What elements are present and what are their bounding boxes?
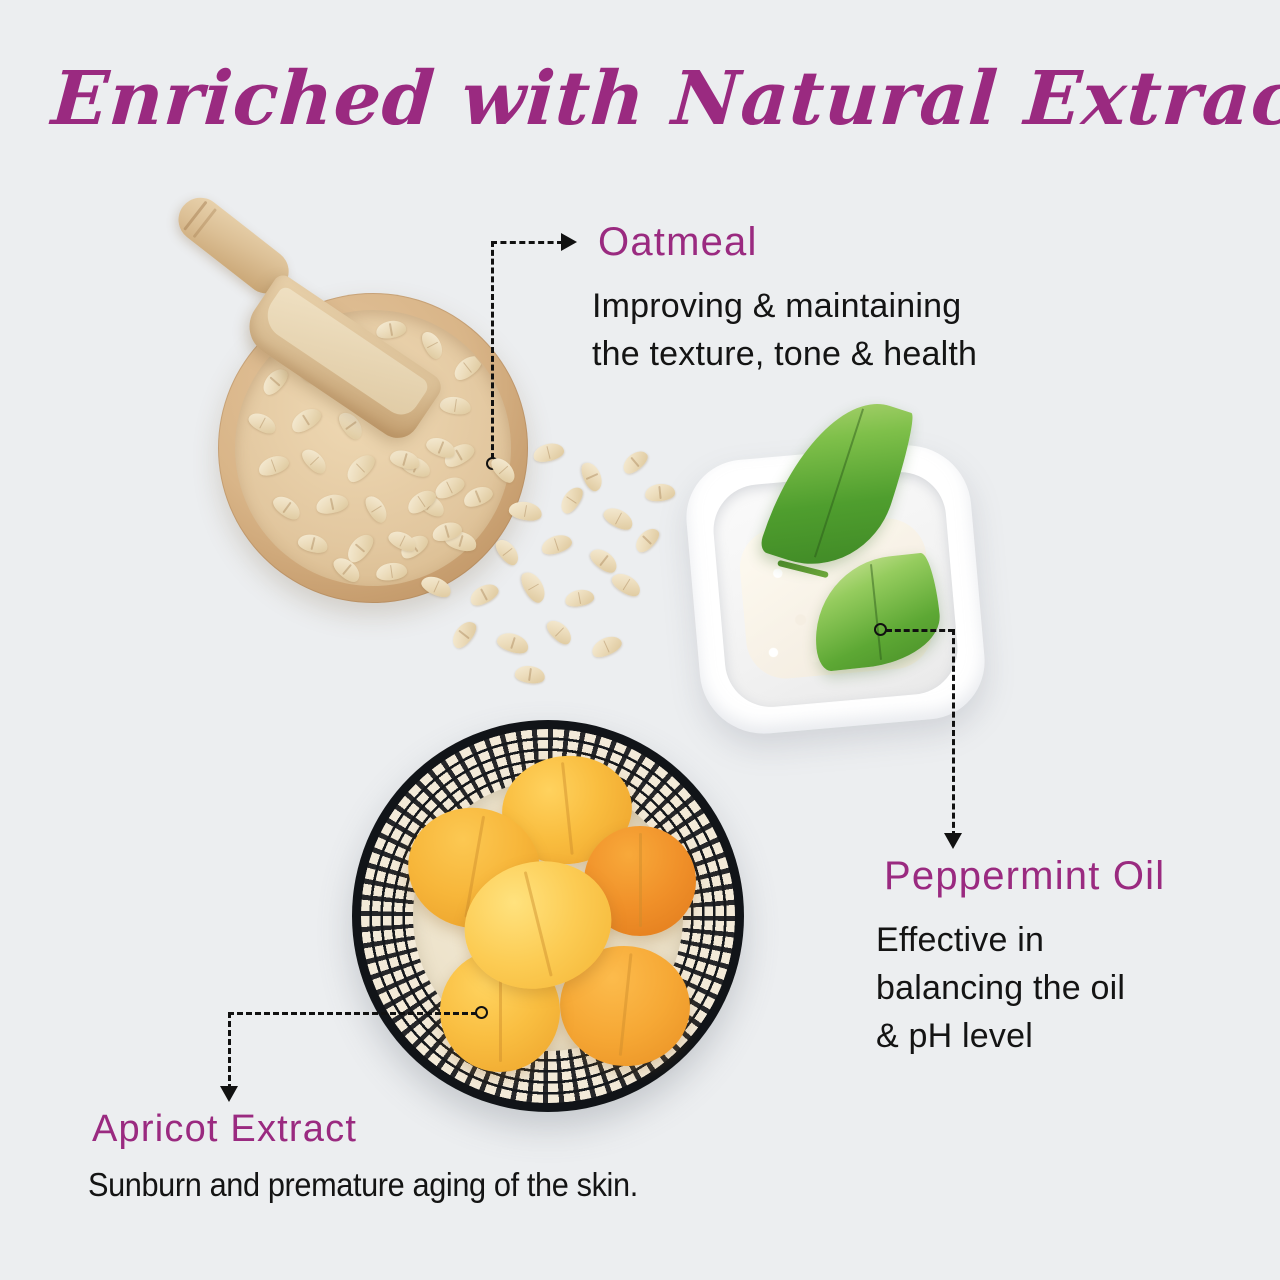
arrow-down-icon xyxy=(944,833,962,849)
peppermint-image xyxy=(665,390,995,740)
ingredient-title-oatmeal: Oatmeal xyxy=(598,222,758,262)
connector-line-horizontal xyxy=(228,1012,477,1015)
page-title: Enriched with Natural Extract xyxy=(49,62,1054,136)
arrow-down-icon xyxy=(220,1086,238,1102)
arrow-right-icon xyxy=(561,233,577,251)
connector-line-horizontal xyxy=(886,629,954,632)
apricot-image xyxy=(352,720,744,1112)
ingredient-description-apricot-extract: Sunburn and premature aging of the skin. xyxy=(88,1164,925,1206)
connector-line-horizontal xyxy=(491,241,563,244)
connector-line-vertical xyxy=(228,1012,231,1090)
infographic-canvas: Enriched with Natural Extract xyxy=(0,0,1280,1280)
connector-line-vertical xyxy=(952,629,955,837)
ingredient-description-peppermint-oil: Effective in balancing the oil & pH leve… xyxy=(876,916,1256,1060)
ingredient-description-oatmeal: Improving & maintaining the texture, ton… xyxy=(592,282,1152,378)
ingredient-title-apricot-extract: Apricot Extract xyxy=(92,1110,357,1148)
ingredient-title-peppermint-oil: Peppermint Oil xyxy=(884,856,1165,896)
